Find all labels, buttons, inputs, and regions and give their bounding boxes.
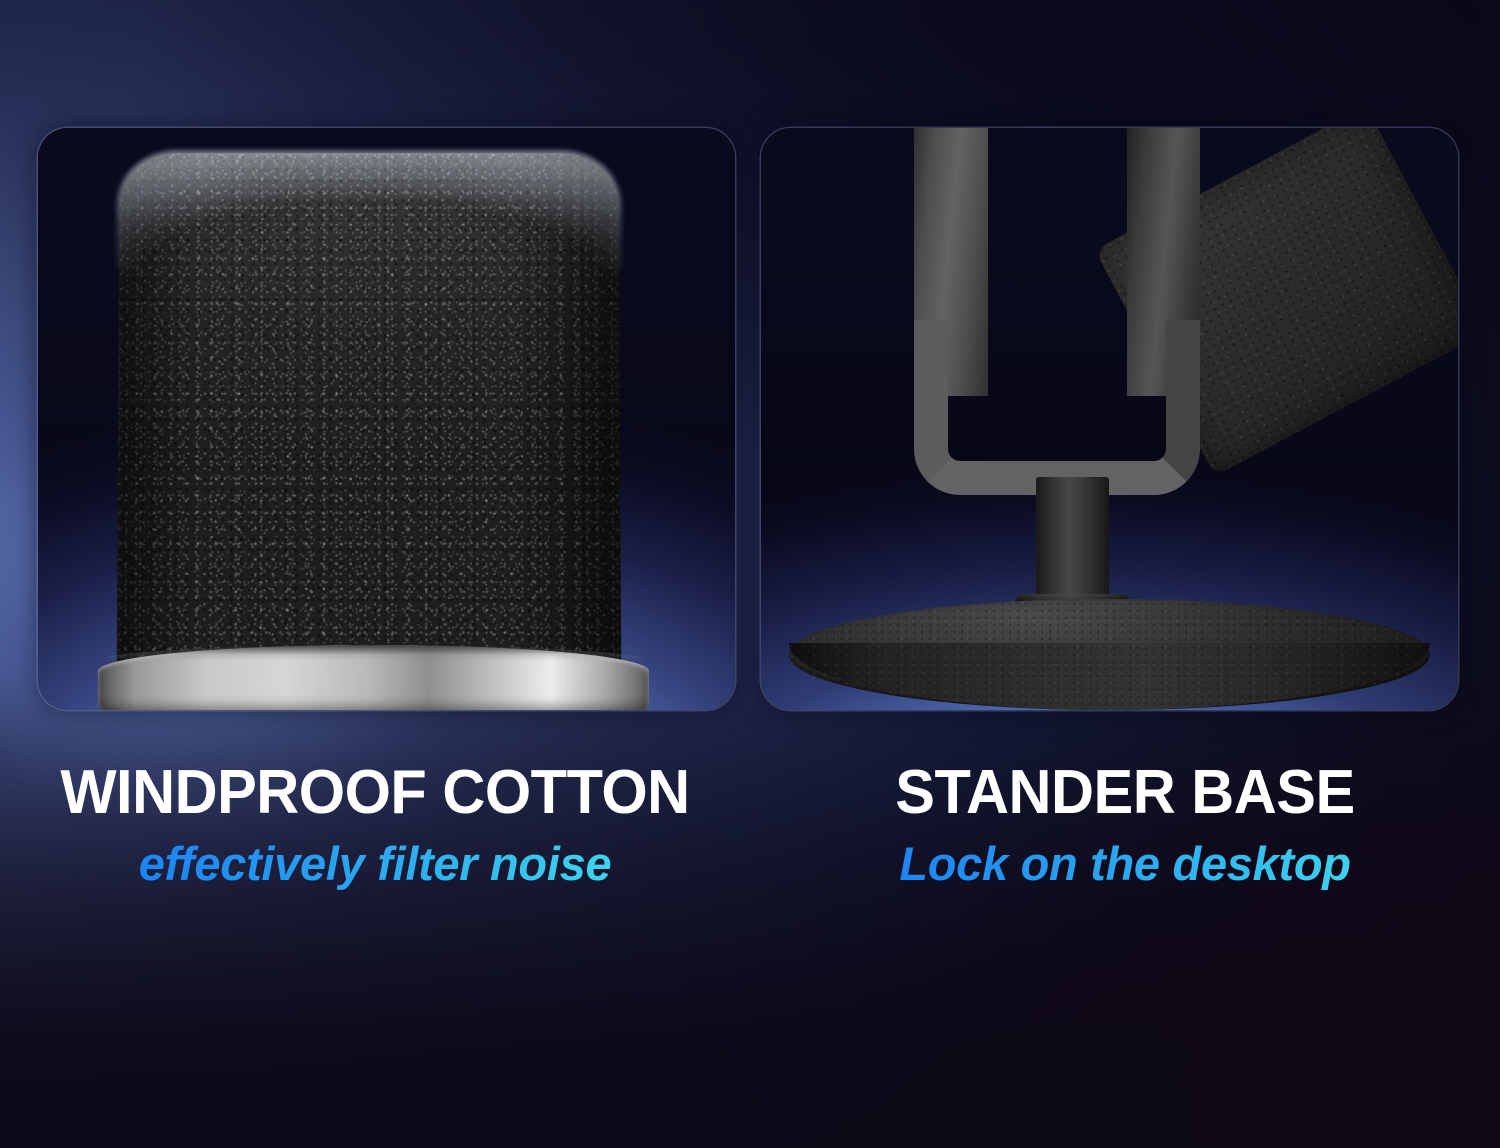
caption-subtitle-windproof-cotton: effectively filter noise xyxy=(0,838,750,890)
caption-title-windproof-cotton: WINDPROOF COTTON xyxy=(15,762,735,824)
feature-card-stander-base xyxy=(761,128,1458,710)
caption-title-stander-base: STANDER BASE xyxy=(765,762,1485,824)
foam-right-shading xyxy=(509,153,622,710)
caption-subtitle-stander-base: Lock on the desktop xyxy=(750,838,1500,890)
caption-stander-base: STANDER BASE Lock on the desktop xyxy=(750,762,1500,890)
caption-row: WINDPROOF COTTON effectively filter nois… xyxy=(0,762,1500,890)
feature-card-row xyxy=(38,128,1458,710)
product-feature-banner: WINDPROOF COTTON effectively filter nois… xyxy=(0,0,1500,1148)
caption-windproof-cotton: WINDPROOF COTTON effectively filter nois… xyxy=(0,762,750,890)
yoke-u-bracket xyxy=(914,320,1200,495)
feature-card-windproof-cotton xyxy=(38,128,735,710)
foam-left-shading xyxy=(116,153,204,710)
background-bottom-vignette xyxy=(0,678,1500,1148)
microphone-metal-collar xyxy=(98,645,649,710)
foam-windscreen-image xyxy=(116,153,621,710)
